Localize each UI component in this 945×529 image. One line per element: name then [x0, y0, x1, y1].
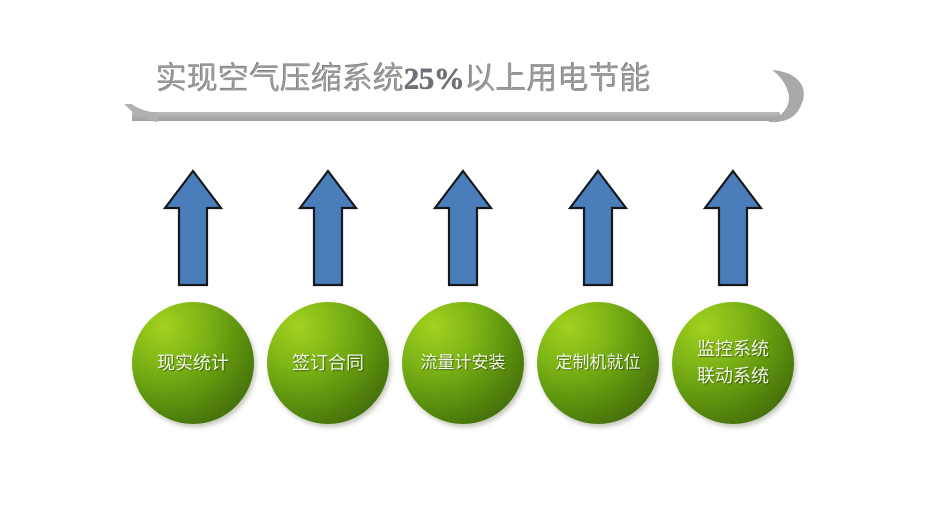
process-step-5[interactable]: 监控系统 联动系统 [672, 302, 794, 424]
step-circle-2 [267, 302, 389, 424]
process-step-3[interactable]: 流量计安装 [402, 302, 524, 424]
step-circle-4 [537, 302, 659, 424]
process-step-1[interactable]: 现实统计 [132, 302, 254, 424]
step-circle-5 [672, 302, 794, 424]
process-step-row: 现实统计 签订合同 流量计安装 定制机就位 监控系统 联动系统 [0, 0, 945, 529]
process-step-2[interactable]: 签订合同 [267, 302, 389, 424]
step-circle-3 [402, 302, 524, 424]
step-circle-1 [132, 302, 254, 424]
process-step-4[interactable]: 定制机就位 [537, 302, 659, 424]
slide-canvas: 实现空气压缩系统25%以上用电节能 [0, 0, 945, 529]
